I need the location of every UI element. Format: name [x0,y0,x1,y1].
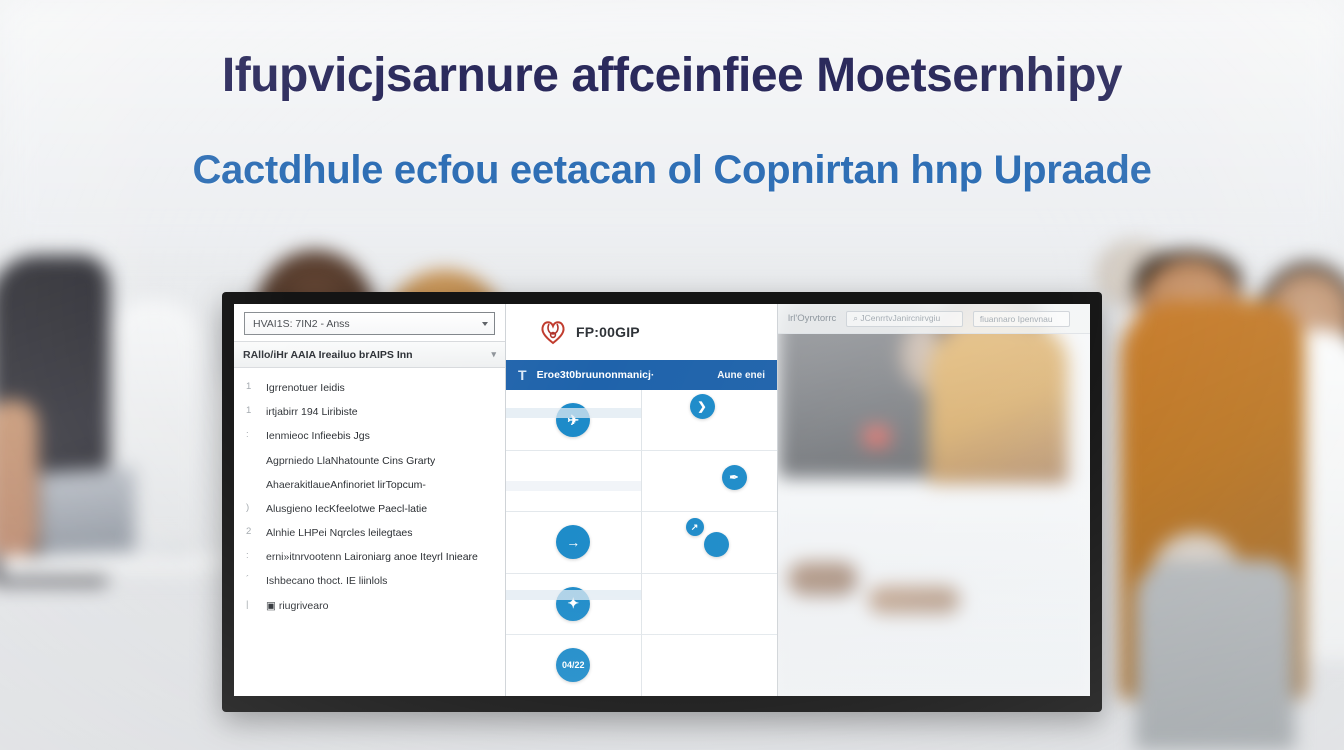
section-header-bar[interactable]: T Eroe3t0bruunonmanicj· Aune enei [506,360,777,390]
brand-header: FP:00GIP [506,304,777,360]
grid-cell[interactable]: ✦ [506,574,642,635]
grid-cell[interactable]: 04/22 [506,635,642,696]
list-item-number: 1 [246,405,254,418]
list-item[interactable]: | ▣ riugrivearo [234,594,505,618]
monitor-frame: HVAI1S: 7IN2 - Anss RAllo/iHr AAIA Ireai… [222,292,1102,712]
pen-icon[interactable]: ✒ [722,465,747,490]
list-item[interactable]: ´ Ishbecano thoct. IE liinlols [234,569,505,593]
chevron-down-icon [482,322,488,326]
list-item-label: ▣ riugrivearo [266,599,328,613]
list-item-number: ´ [246,574,254,587]
list-item[interactable]: 1 Igrrenotuer Ieidis [234,376,505,400]
page-subtitle: Cactdhule ecfou eetacan ol Copnirtan hnp… [0,148,1344,193]
date-badge-icon[interactable]: 04/22 [556,648,590,682]
text-tool-icon: T [518,367,527,383]
page-title: Ifupvicjsarnure affceinfiee Moetsernhipy [0,48,1344,103]
right-toolbar: lrl'Oyrvtorrc ⌕ JCenrrtvJanircnirvgiu fi… [778,304,1090,334]
filter-input[interactable]: fiuannaro Ipenvnau [973,311,1070,327]
arrow-up-right-icon-2[interactable] [704,532,729,557]
arrow-up-right-icon[interactable]: ↗ [686,518,704,536]
background-wall [0,0,1344,250]
arrow-right-icon[interactable]: → [556,525,590,559]
record-select-value: HVAI1S: 7IN2 - Anss [253,318,350,330]
section-header-title: Eroe3t0bruunonmanicj· [537,369,708,381]
chevron-right-icon[interactable]: ❯ [690,394,715,419]
brand-name: FP:00GIP [576,324,640,340]
list-item-number: : [246,550,254,563]
list-item-label: Ienmieoc Infieebis Jgs [266,429,370,443]
list-item[interactable]: 2 Alnhie LHPei Nqrcles leilegtaes [234,521,505,545]
toolbar-label: lrl'Oyrvtorrc [788,313,836,324]
list-item[interactable]: ) Alusgieno IecKfeelotwe Paecl-latie [234,497,505,521]
screenshot-root: Ifupvicjsarnure affceinfiee Moetsernhipy… [0,0,1344,750]
list-item-label: AhaerakitlaueAnfinoriet lirTopcum- [266,478,426,492]
search-input[interactable]: ⌕ JCenrrtvJanircnirvgiu [846,311,963,327]
screen: HVAI1S: 7IN2 - Anss RAllo/iHr AAIA Ireai… [234,304,1090,696]
reflection-people [778,304,1090,696]
icon-grid: ✈ ❯ ✒ → ↗ [506,390,777,696]
list-item-number: : [246,429,254,442]
list-item-number: | [246,599,254,612]
list-item[interactable]: Agprniedo LlaNhatounte Cins Grarty [234,449,505,473]
filter-row: HVAI1S: 7IN2 - Anss [234,304,505,341]
list-item-label: erni»itnrvootenn Laironiarg anoe Iteyrl … [266,550,478,564]
list-item[interactable]: : Ienmieoc Infieebis Jgs [234,424,505,448]
sort-indicator-icon: ▾ [491,349,496,360]
list-item-label: Ishbecano thoct. IE liinlols [266,574,387,588]
grid-cell[interactable] [642,635,778,696]
list-item-label: irtjabirr 194 Liribiste [266,405,358,419]
list-item[interactable]: AhaerakitlaueAnfinoriet lirTopcum- [234,473,505,497]
grid-cell[interactable]: → [506,512,642,573]
record-list[interactable]: 1 Igrrenotuer Ieidis 1 irtjabirr 194 Lir… [234,368,505,696]
grid-cell[interactable] [642,574,778,635]
grid-cell[interactable]: ↗ [642,512,778,573]
grid-cell[interactable]: ✒ [642,451,778,512]
center-panel: FP:00GIP T Eroe3t0bruunonmanicj· Aune en… [506,304,778,696]
list-item-label: Agprniedo LlaNhatounte Cins Grarty [266,454,435,468]
list-item-label: Alnhie LHPei Nqrcles leilegtaes [266,526,413,540]
list-item-label: Igrrenotuer Ieidis [266,381,345,395]
list-item-number: ) [246,502,254,515]
list-item[interactable]: : erni»itnrvootenn Laironiarg anoe Iteyr… [234,545,505,569]
left-panel: HVAI1S: 7IN2 - Anss RAllo/iHr AAIA Ireai… [234,304,506,696]
list-header-title: RAllo/iHr AAIA Ireailuo brAIPS Inn [243,349,413,361]
list-item-number: 1 [246,381,254,394]
list-item[interactable]: 1 irtjabirr 194 Liribiste [234,400,505,424]
heart-stethoscope-icon [538,317,568,347]
grid-cell[interactable] [506,451,642,512]
right-panel: lrl'Oyrvtorrc ⌕ JCenrrtvJanircnirvgiu fi… [778,304,1090,696]
grid-cell[interactable]: ❯ [642,390,778,451]
list-header[interactable]: RAllo/iHr AAIA Ireailuo brAIPS Inn ▾ [234,341,505,368]
list-item-label: Alusgieno IecKfeelotwe Paecl-latie [266,502,427,516]
section-header-action[interactable]: Aune enei [717,370,765,381]
list-item-number: 2 [246,526,254,539]
record-select[interactable]: HVAI1S: 7IN2 - Anss [244,312,495,335]
grid-cell[interactable]: ✈ [506,390,642,451]
